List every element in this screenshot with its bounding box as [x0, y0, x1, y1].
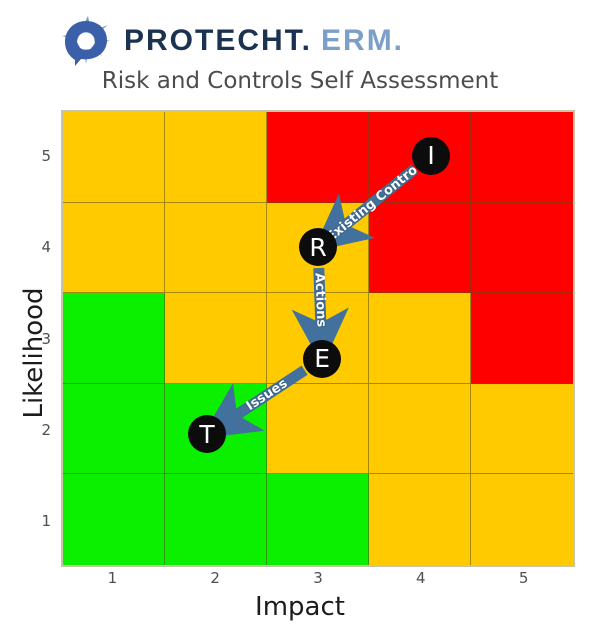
matrix-cell-i1-l2[interactable] [63, 384, 165, 475]
matrix-cell-i4-l5[interactable] [369, 112, 471, 203]
matrix-cell-i5-l4[interactable] [471, 203, 573, 294]
matrix-cell-i2-l3[interactable] [165, 293, 267, 384]
x-axis-title: Impact [0, 592, 600, 622]
matrix-cell-i4-l3[interactable] [369, 293, 471, 384]
bottom-spacer [0, 621, 600, 631]
matrix-cell-i2-l4[interactable] [165, 203, 267, 294]
risk-matrix-plot [61, 110, 575, 567]
matrix-cell-i4-l2[interactable] [369, 384, 471, 475]
x-tick-2: 2 [195, 569, 235, 587]
x-axis: 12345 [61, 569, 575, 593]
brand-logo: PROTECHT. ERM. [58, 14, 404, 68]
y-tick-1: 1 [11, 512, 51, 530]
matrix-cell-i1-l1[interactable] [63, 474, 165, 565]
wordmark-protecht: PROTECHT. [124, 26, 312, 56]
matrix-cell-i2-l5[interactable] [165, 112, 267, 203]
matrix-cell-i4-l1[interactable] [369, 474, 471, 565]
matrix-cell-i5-l5[interactable] [471, 112, 573, 203]
x-tick-4: 4 [401, 569, 441, 587]
matrix-cell-i2-l2[interactable] [165, 384, 267, 475]
x-tick-1: 1 [92, 569, 132, 587]
matrix-cell-i1-l5[interactable] [63, 112, 165, 203]
wordmark-erm: ERM. [321, 26, 404, 56]
matrix-cell-i4-l4[interactable] [369, 203, 471, 294]
page-title: Risk and Controls Self Assessment [0, 68, 600, 94]
x-tick-5: 5 [504, 569, 544, 587]
matrix-cell-i2-l1[interactable] [165, 474, 267, 565]
matrix-cell-i5-l1[interactable] [471, 474, 573, 565]
risk-matrix-grid [63, 112, 573, 565]
y-tick-5: 5 [11, 147, 51, 165]
matrix-cell-i1-l3[interactable] [63, 293, 165, 384]
matrix-cell-i5-l2[interactable] [471, 384, 573, 475]
matrix-cell-i3-l4[interactable] [267, 203, 369, 294]
matrix-cell-i1-l4[interactable] [63, 203, 165, 294]
page-header: PROTECHT. ERM. Risk and Controls Self As… [0, 0, 600, 105]
x-tick-3: 3 [298, 569, 338, 587]
matrix-cell-i3-l5[interactable] [267, 112, 369, 203]
y-axis-title: Likelihood [19, 223, 49, 483]
matrix-cell-i3-l1[interactable] [267, 474, 369, 565]
matrix-cell-i3-l3[interactable] [267, 293, 369, 384]
matrix-cell-i3-l2[interactable] [267, 384, 369, 475]
matrix-cell-i5-l3[interactable] [471, 293, 573, 384]
protecht-swirl-logo-icon [58, 14, 114, 68]
brand-wordmark: PROTECHT. ERM. [124, 26, 404, 56]
